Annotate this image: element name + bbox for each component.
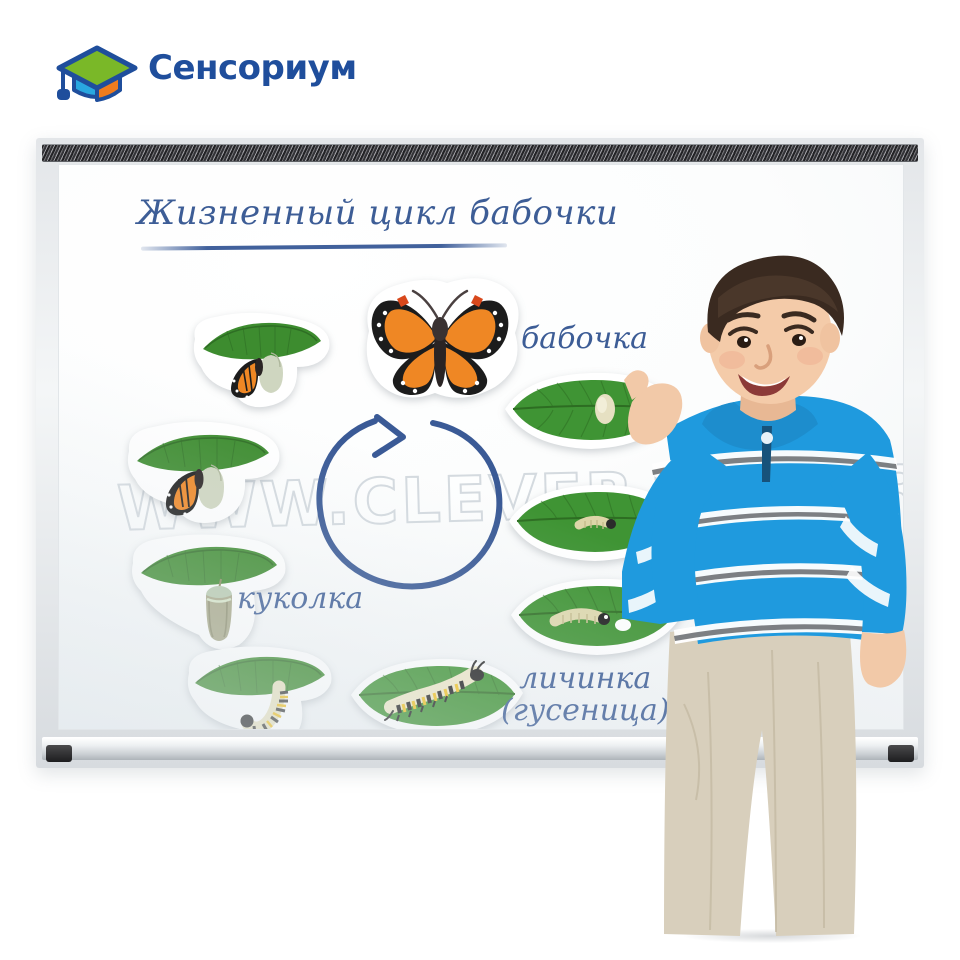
brand-logo[interactable]: Сенсориум <box>56 40 386 112</box>
screenshot-root: Сенсориум WWW.CLEVER-TOYS.RU Жизненный ц… <box>0 0 960 960</box>
magnet-butterfly-adult[interactable] <box>355 273 525 403</box>
page-title: Жизненный цикл бабочки <box>137 193 618 233</box>
graduation-cap-icon <box>56 42 138 108</box>
magnet-caterpillar-hanging-j[interactable] <box>183 641 343 730</box>
magnet-butterfly-emerging[interactable] <box>187 305 337 415</box>
whiteboard-top-rail <box>42 144 918 162</box>
brand-name: Сенсориум <box>148 48 357 88</box>
title-underline <box>141 243 507 250</box>
label-pupa: куколка <box>237 583 363 615</box>
life-cycle-arrow <box>305 403 525 603</box>
tray-end-cap-left <box>46 745 72 762</box>
smiling-boy <box>622 252 922 942</box>
magnet-butterfly-drying-wings[interactable] <box>121 415 291 535</box>
magnet-caterpillar-large-leaf[interactable] <box>347 647 527 730</box>
